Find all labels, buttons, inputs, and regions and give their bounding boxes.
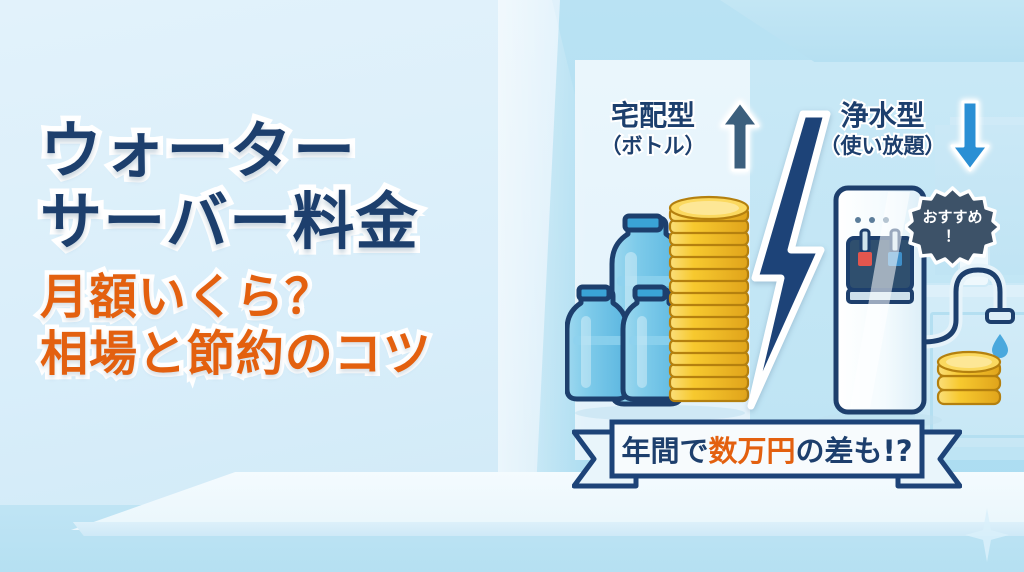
faucet-spout [987, 310, 1013, 322]
headline-block: ウォーター サーバー料金 月額いくら？ 相場と節約のコツ [40, 118, 432, 379]
purifier-subtitle: （使い放題） [815, 134, 950, 159]
poster-canvas: ウォーター サーバー料金 月額いくら？ 相場と節約のコツ 宅配型 （ボトル） 浄… [0, 0, 1024, 572]
water-drop-icon [992, 334, 1008, 358]
title-line-1: ウォーター [40, 118, 432, 183]
delivery-title: 宅配型 [588, 100, 718, 132]
title-line-2: サーバー料金 [40, 189, 432, 254]
badge-text-block: おすすめ ！ [905, 186, 1000, 268]
badge-line-2: ！ [945, 227, 960, 246]
indicator-light-1 [855, 217, 861, 223]
table-edge [62, 522, 1024, 536]
coin-stack-tall [670, 197, 748, 401]
indicator-light-2 [869, 217, 875, 223]
label-delivery-type: 宅配型 （ボトル） [588, 100, 718, 159]
ribbon-suffix: の差も!? [795, 428, 912, 470]
hot-water-button [858, 252, 872, 266]
ribbon-banner: 年間で数万円の差も!? [572, 418, 962, 502]
subtitle-line-2: 相場と節約のコツ [40, 329, 432, 379]
ribbon-text-block: 年間で数万円の差も!? [612, 422, 922, 476]
ribbon-prefix: 年間で [621, 428, 708, 470]
coin-stack-small [938, 352, 1000, 404]
arrow-up-icon [720, 100, 760, 176]
delivery-subtitle: （ボトル） [588, 134, 718, 159]
illustration-delivery [565, 180, 765, 429]
water-hose [922, 270, 1000, 342]
recommend-badge: おすすめ ！ [905, 186, 1000, 272]
subtitle-line-1: 月額いくら？ [40, 272, 432, 322]
ribbon-highlight: 数万円 [708, 428, 795, 470]
badge-line-1: おすすめ [922, 208, 982, 227]
purifier-title: 浄水型 [815, 100, 950, 132]
arrow-down-icon [950, 100, 990, 176]
label-purifier-type: 浄水型 （使い放題） [815, 100, 950, 159]
